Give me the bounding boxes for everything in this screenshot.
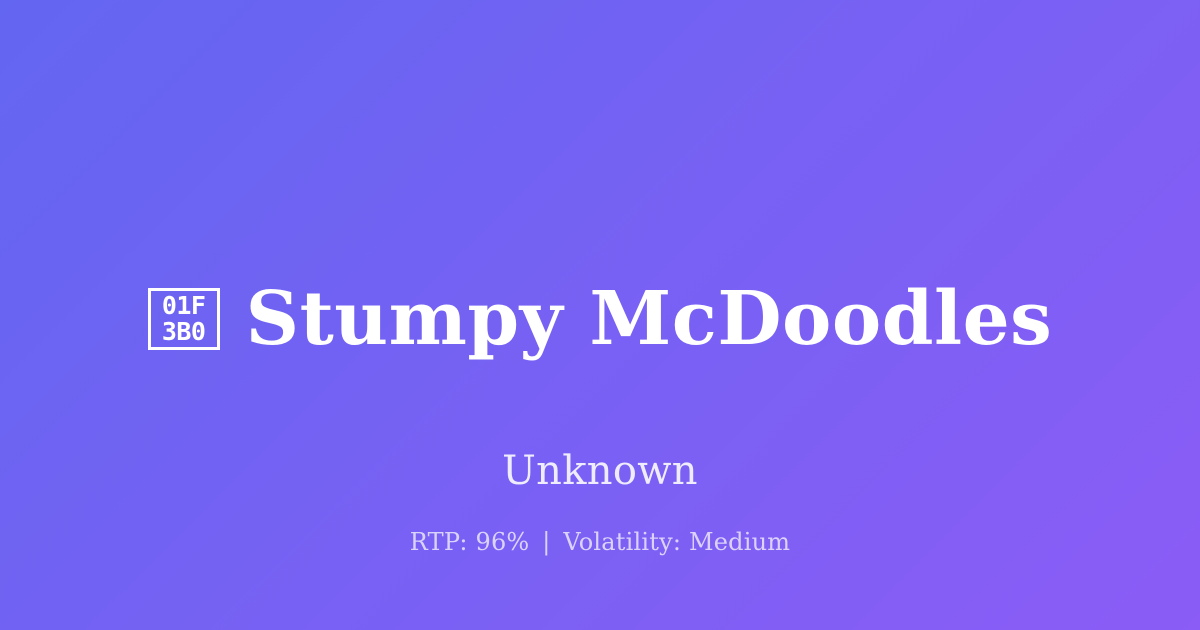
- title-row: 01F 3B0 Stumpy McDoodles: [148, 232, 1053, 407]
- game-stats-line: RTP: 96% | Volatility: Medium: [0, 528, 1200, 557]
- rtp-label: RTP:: [410, 528, 468, 556]
- slot-machine-icon-codepoint-top: 01F: [162, 293, 206, 319]
- stats-separator: |: [537, 528, 555, 556]
- slot-machine-icon-codepoint-bottom: 3B0: [162, 319, 206, 345]
- volatility-label: Volatility:: [563, 528, 681, 556]
- hero-block: 01F 3B0 Stumpy McDoodles Unknown: [0, 232, 1200, 493]
- game-og-card: 01F 3B0 Stumpy McDoodles Unknown RTP: 96…: [0, 0, 1200, 630]
- volatility-value: Medium: [689, 528, 790, 556]
- game-provider: Unknown: [502, 449, 698, 493]
- game-title: Stumpy McDoodles: [246, 282, 1053, 357]
- rtp-value: 96%: [475, 528, 529, 556]
- slot-machine-icon: 01F 3B0: [148, 288, 220, 350]
